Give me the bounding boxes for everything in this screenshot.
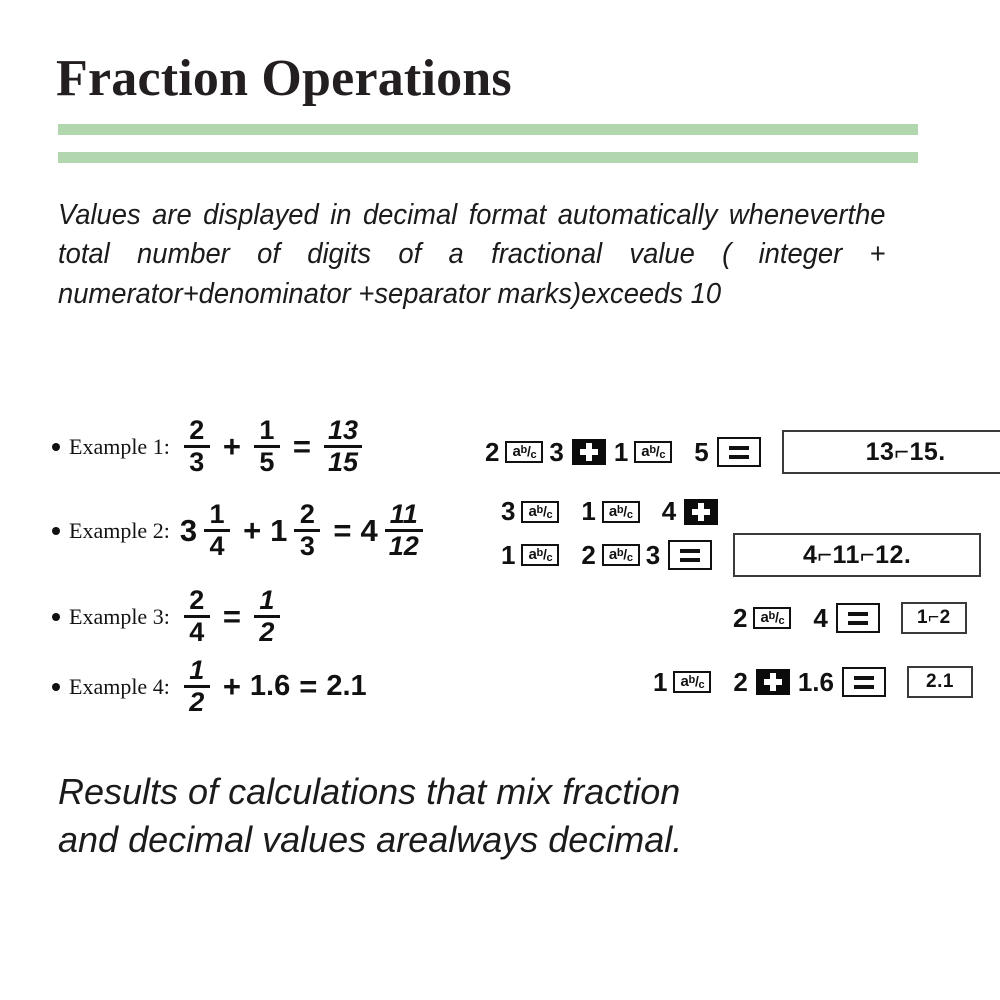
math-expression: 2 4 = 1 2 bbox=[180, 586, 284, 647]
denominator: 4 bbox=[206, 532, 229, 561]
decimal-result: 2.1 bbox=[326, 670, 366, 703]
fraction-result: 11 12 bbox=[385, 500, 423, 561]
page-title: Fraction Operations bbox=[56, 52, 512, 107]
intro-paragraph: Values are displayed in decimal format a… bbox=[58, 196, 886, 314]
a-b-over-c-key-icon[interactable]: ab/c bbox=[753, 607, 791, 629]
calculator-display: 13⌐15. bbox=[782, 430, 1000, 474]
numerator: 2 bbox=[185, 586, 208, 615]
title-rule-top bbox=[58, 124, 918, 135]
numerator: 13 bbox=[324, 416, 362, 445]
equals-key-icon[interactable] bbox=[836, 603, 880, 633]
denominator: 3 bbox=[296, 532, 319, 561]
numerator: 1 bbox=[185, 656, 208, 685]
denominator: 4 bbox=[185, 618, 208, 647]
key-digit[interactable]: 1 bbox=[653, 667, 667, 698]
key-digit[interactable]: 1.6 bbox=[798, 667, 834, 698]
calculator-display: 2.1 bbox=[907, 666, 973, 698]
denominator: 2 bbox=[185, 688, 208, 717]
key-digit[interactable]: 1 bbox=[501, 540, 515, 571]
plus-key-icon[interactable] bbox=[572, 439, 606, 465]
example-4-label: Example 4: bbox=[69, 674, 170, 700]
example-row: Example 1: 2 3 + 1 5 = 13 15 bbox=[0, 416, 1000, 486]
whole-number-result: 4 bbox=[361, 513, 378, 549]
bullet-icon bbox=[52, 527, 60, 535]
operator-equals: = bbox=[299, 669, 317, 705]
denominator: 12 bbox=[385, 532, 423, 561]
whole-number: 1 bbox=[270, 513, 287, 549]
key-digit[interactable]: 4 bbox=[662, 496, 676, 527]
title-rule-bottom bbox=[58, 152, 918, 163]
numerator: 2 bbox=[185, 416, 208, 445]
example-2-keystrokes: 3 ab/c 1 ab/c 4 1 ab/c 2 bbox=[498, 496, 981, 577]
abc-c: c bbox=[627, 510, 633, 521]
equals-key-icon[interactable] bbox=[842, 667, 886, 697]
a-b-over-c-key-icon[interactable]: ab/c bbox=[634, 441, 672, 463]
key-digit[interactable]: 3 bbox=[646, 540, 660, 571]
abc-a: a bbox=[641, 444, 649, 459]
example-1-label: Example 1: bbox=[69, 434, 170, 460]
fraction: 1 2 bbox=[184, 656, 210, 717]
a-b-over-c-key-icon[interactable]: ab/c bbox=[521, 501, 559, 523]
footer-line-2: and decimal values arealways decimal. bbox=[58, 816, 980, 864]
math-expression: 1 2 + 1.6 = 2.1 bbox=[180, 656, 367, 717]
abc-c: c bbox=[779, 616, 785, 627]
a-b-over-c-key-icon[interactable]: ab/c bbox=[602, 501, 640, 523]
abc-c: c bbox=[531, 450, 537, 461]
operator-equals: = bbox=[293, 429, 311, 465]
abc-b: b bbox=[521, 445, 527, 456]
decimal-operand: 1.6 bbox=[250, 670, 290, 703]
abc-a: a bbox=[609, 504, 617, 519]
a-b-over-c-key-icon[interactable]: ab/c bbox=[505, 441, 543, 463]
key-digit[interactable]: 2 bbox=[733, 603, 747, 634]
calculator-display: 4⌐11⌐12. bbox=[733, 533, 981, 577]
keystroke-line: 1 ab/c 2 ab/c 3 4⌐11⌐12. bbox=[498, 533, 981, 577]
example-2-expression: Example 2: 3 1 4 + 1 2 3 = 4 11 bbox=[52, 500, 427, 561]
operator-plus: + bbox=[223, 429, 241, 465]
abc-b: b bbox=[537, 505, 543, 516]
keystroke-line: 2 ab/c 4 1⌐2 bbox=[730, 602, 967, 634]
footer-paragraph: Results of calculations that mix fractio… bbox=[58, 768, 980, 863]
numerator: 1 bbox=[206, 500, 229, 529]
fraction-result: 13 15 bbox=[324, 416, 362, 477]
abc-c: c bbox=[547, 510, 553, 521]
numerator: 2 bbox=[296, 500, 319, 529]
example-4-expression: Example 4: 1 2 + 1.6 = 2.1 bbox=[52, 656, 367, 717]
abc-b: b bbox=[617, 548, 623, 559]
example-1-expression: Example 1: 2 3 + 1 5 = 13 15 bbox=[52, 416, 366, 477]
bullet-icon bbox=[52, 683, 60, 691]
abc-a: a bbox=[512, 444, 520, 459]
keystroke-line: 2 ab/c 3 1 ab/c 5 13⌐15. bbox=[482, 430, 1000, 474]
a-b-over-c-key-icon[interactable]: ab/c bbox=[602, 544, 640, 566]
abc-c: c bbox=[699, 680, 705, 691]
key-digit[interactable]: 1 bbox=[581, 496, 595, 527]
example-1-keystrokes: 2 ab/c 3 1 ab/c 5 13⌐15. bbox=[482, 430, 1000, 474]
math-expression: 2 3 + 1 5 = 13 15 bbox=[180, 416, 366, 477]
example-3-label: Example 3: bbox=[69, 604, 170, 630]
abc-b: b bbox=[769, 611, 775, 622]
example-row: Example 2: 3 1 4 + 1 2 3 = 4 11 bbox=[0, 492, 1000, 574]
operator-plus: + bbox=[223, 669, 241, 705]
plus-key-icon[interactable] bbox=[756, 669, 790, 695]
operator-equals: = bbox=[333, 513, 351, 549]
key-digit[interactable]: 1 bbox=[614, 437, 628, 468]
abc-b: b bbox=[649, 445, 655, 456]
example-3-expression: Example 3: 2 4 = 1 2 bbox=[52, 586, 284, 647]
bullet-icon bbox=[52, 443, 60, 451]
denominator: 2 bbox=[255, 618, 278, 647]
abc-b: b bbox=[689, 675, 695, 686]
example-3-keystrokes: 2 ab/c 4 1⌐2 bbox=[730, 602, 967, 634]
plus-key-icon[interactable] bbox=[684, 499, 718, 525]
denominator: 5 bbox=[255, 448, 278, 477]
numerator: 11 bbox=[386, 500, 422, 529]
key-digit[interactable]: 4 bbox=[813, 603, 827, 634]
a-b-over-c-key-icon[interactable]: ab/c bbox=[521, 544, 559, 566]
abc-a: a bbox=[680, 674, 688, 689]
numerator: 1 bbox=[255, 586, 278, 615]
key-digit[interactable]: 2 bbox=[485, 437, 499, 468]
abc-c: c bbox=[627, 553, 633, 564]
key-digit[interactable]: 3 bbox=[501, 496, 515, 527]
numerator: 1 bbox=[255, 416, 278, 445]
example-4-keystrokes: 1 ab/c 2 1.6 2.1 bbox=[650, 666, 973, 698]
examples-section: Example 1: 2 3 + 1 5 = 13 15 bbox=[0, 408, 1000, 728]
operator-plus: + bbox=[243, 513, 261, 549]
keystroke-line: 3 ab/c 1 ab/c 4 bbox=[498, 496, 981, 527]
abc-a: a bbox=[609, 547, 617, 562]
example-2-label: Example 2: bbox=[69, 518, 170, 544]
bullet-icon bbox=[52, 613, 60, 621]
math-expression: 3 1 4 + 1 2 3 = 4 11 12 bbox=[180, 500, 427, 561]
fraction: 2 4 bbox=[184, 586, 210, 647]
example-row: Example 4: 1 2 + 1.6 = 2.1 1 ab/c bbox=[0, 656, 1000, 722]
footer-line-1: Results of calculations that mix fractio… bbox=[58, 768, 980, 816]
denominator: 3 bbox=[185, 448, 208, 477]
equals-key-icon[interactable] bbox=[668, 540, 712, 570]
key-digit[interactable]: 2 bbox=[581, 540, 595, 571]
whole-number: 3 bbox=[180, 513, 197, 549]
example-row: Example 3: 2 4 = 1 2 2 ab/c bbox=[0, 586, 1000, 654]
key-digit[interactable]: 2 bbox=[733, 667, 747, 698]
fraction: 2 3 bbox=[294, 500, 320, 561]
a-b-over-c-key-icon[interactable]: ab/c bbox=[673, 671, 711, 693]
denominator: 15 bbox=[324, 448, 362, 477]
abc-a: a bbox=[528, 504, 536, 519]
key-digit[interactable]: 3 bbox=[549, 437, 563, 468]
keystroke-line: 1 ab/c 2 1.6 2.1 bbox=[650, 666, 973, 698]
calculator-display: 1⌐2 bbox=[901, 602, 967, 634]
abc-a: a bbox=[528, 547, 536, 562]
fraction-result: 1 2 bbox=[254, 586, 280, 647]
abc-c: c bbox=[659, 450, 665, 461]
key-digit[interactable]: 5 bbox=[694, 437, 708, 468]
abc-b: b bbox=[617, 505, 623, 516]
abc-b: b bbox=[537, 548, 543, 559]
fraction: 1 5 bbox=[254, 416, 280, 477]
operator-equals: = bbox=[223, 599, 241, 635]
fraction: 2 3 bbox=[184, 416, 210, 477]
fraction: 1 4 bbox=[204, 500, 230, 561]
equals-key-icon[interactable] bbox=[717, 437, 761, 467]
abc-a: a bbox=[760, 610, 768, 625]
abc-c: c bbox=[547, 553, 553, 564]
